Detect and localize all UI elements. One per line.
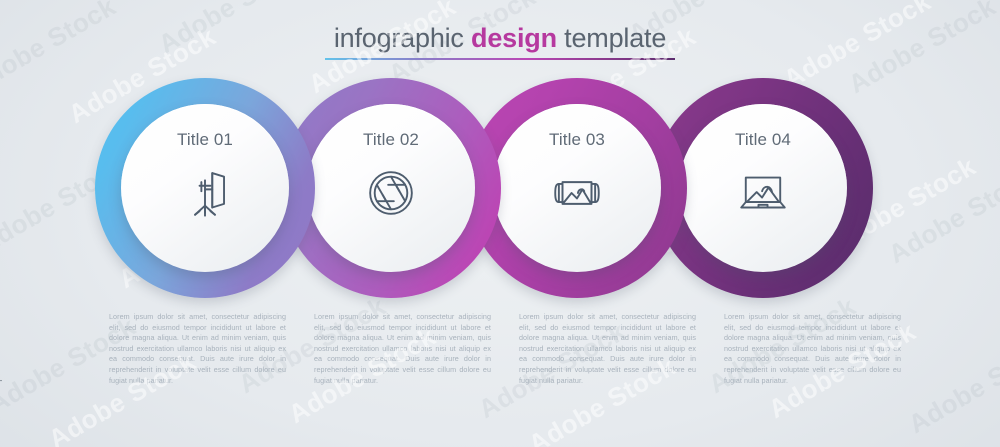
title-underline-rule	[325, 58, 675, 60]
step-description-4: Lorem ipsum dolor sit amet, consectetur …	[710, 312, 915, 386]
laptop-photo-icon	[732, 164, 794, 222]
step-description-2: Lorem ipsum dolor sit amet, consectetur …	[300, 312, 505, 386]
infographic-canvas: Adobe Stock Adobe Stock Adobe Stock Adob…	[0, 0, 1000, 447]
page-title-word-1: infographic	[334, 23, 464, 53]
watermark-tile: Adobe Stock	[903, 331, 1000, 440]
step-disc-1[interactable]: Title 01	[121, 104, 289, 272]
step-disc-3[interactable]: Title 03	[493, 104, 661, 272]
page-title-word-emphasis: design	[471, 23, 557, 53]
studio-softbox-light-icon	[174, 164, 236, 222]
page-title-block: infographic design template	[0, 22, 1000, 60]
step-title-3: Title 03	[549, 130, 605, 150]
step-title-1: Title 01	[177, 130, 233, 150]
page-title-word-2: template	[564, 23, 666, 53]
step-circles-row: Title 01	[95, 78, 915, 298]
stock-credit-label: Adobe Stock | #541795029	[0, 323, 2, 439]
step-disc-2[interactable]: Title 02	[307, 104, 475, 272]
step-title-2: Title 02	[363, 130, 419, 150]
camera-aperture-icon	[360, 164, 422, 222]
step-title-4: Title 04	[735, 130, 791, 150]
step-description-3: Lorem ipsum dolor sit amet, consectetur …	[505, 312, 710, 386]
step-disc-4[interactable]: Title 04	[679, 104, 847, 272]
rolled-photo-print-icon	[546, 164, 608, 222]
step-node-1[interactable]: Title 01	[95, 78, 315, 298]
step-descriptions-row: Lorem ipsum dolor sit amet, consectetur …	[95, 312, 915, 386]
step-description-1: Lorem ipsum dolor sit amet, consectetur …	[95, 312, 300, 386]
page-title: infographic design template	[0, 22, 1000, 54]
